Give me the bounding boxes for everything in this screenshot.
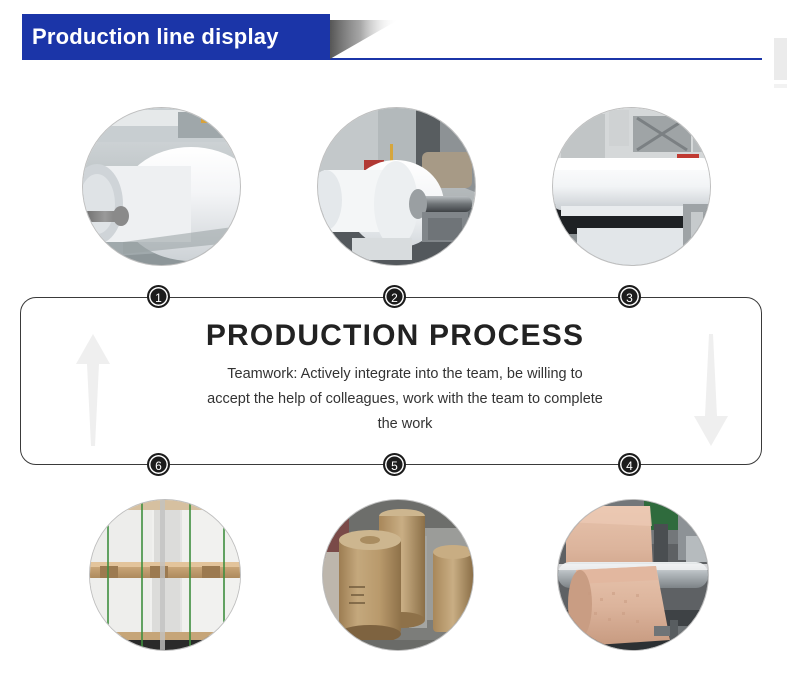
photo-2-scene: [318, 108, 475, 265]
process-badge-6[interactable]: 6: [147, 453, 170, 476]
photo-3-scene: [553, 108, 710, 265]
photo-5-scene: [323, 500, 473, 650]
photo-circle-step-2: [318, 108, 475, 265]
process-badge-1[interactable]: 1: [147, 285, 170, 308]
photo-circle-step-6: [90, 500, 240, 650]
process-badge-5[interactable]: 5: [383, 453, 406, 476]
process-badge-2[interactable]: 2: [383, 285, 406, 308]
process-description: Teamwork: Actively integrate into the te…: [205, 362, 605, 437]
process-title: PRODUCTION PROCESS: [0, 319, 790, 353]
photo-circle-step-4: [558, 500, 708, 650]
photo-circle-step-5: [323, 500, 473, 650]
right-edge-scrollbar[interactable]: [774, 38, 787, 80]
right-edge-scrollbar-tail: [774, 84, 787, 88]
photo-6-scene: [90, 500, 240, 650]
photo-1-scene: [83, 108, 240, 265]
header-banner-shadow: [330, 20, 398, 59]
photo-circle-step-1: [83, 108, 240, 265]
header-banner: Production line display: [22, 14, 330, 59]
photo-circle-step-3: [553, 108, 710, 265]
photo-4-scene: [558, 500, 708, 650]
process-badge-4[interactable]: 4: [618, 453, 641, 476]
page-title: Production line display: [32, 14, 330, 59]
process-badge-3[interactable]: 3: [618, 285, 641, 308]
